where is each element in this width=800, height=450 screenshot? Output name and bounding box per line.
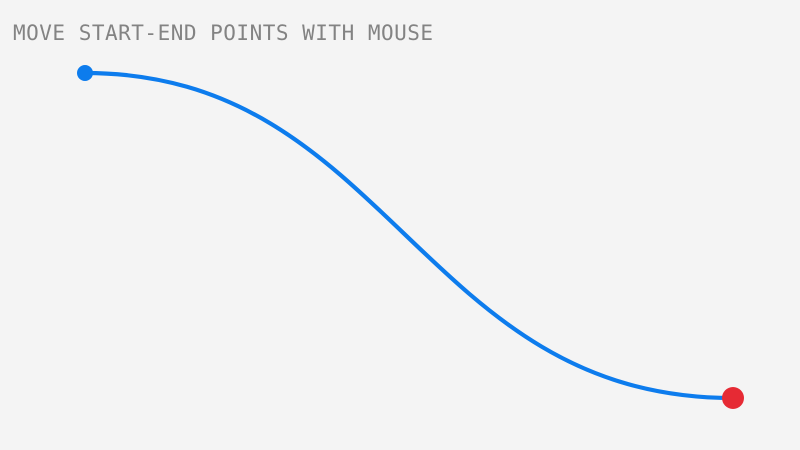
drawing-canvas[interactable]: MOVE START-END POINTS WITH MOUSE bbox=[0, 0, 800, 450]
start-point-hit-area[interactable] bbox=[69, 57, 101, 89]
bezier-demo-app: MOVE START-END POINTS WITH MOUSE bbox=[0, 0, 800, 450]
end-point-hit-area[interactable] bbox=[711, 376, 755, 420]
page-title: MOVE START-END POINTS WITH MOUSE bbox=[13, 21, 434, 45]
bezier-curve bbox=[85, 73, 733, 398]
